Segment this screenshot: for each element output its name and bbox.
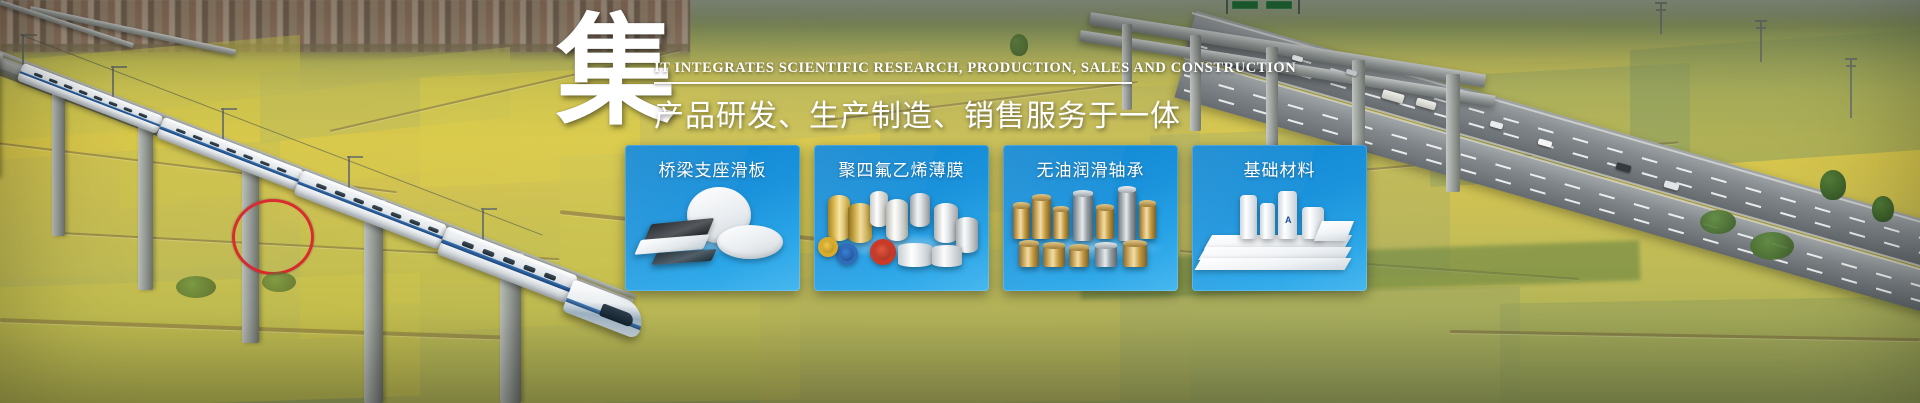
ptfe-sheet bbox=[1195, 258, 1352, 270]
train-car bbox=[156, 117, 304, 191]
lamp-pole bbox=[1850, 58, 1852, 118]
bronze-bushing bbox=[1096, 207, 1114, 239]
headline-text-group: IT INTEGRATES SCIENTIFIC RESEARCH, PRODU… bbox=[654, 60, 1154, 135]
film-ring-red bbox=[870, 239, 896, 265]
film-roll bbox=[828, 195, 850, 241]
product-card-base-materials[interactable]: 基础材料 A bbox=[1192, 145, 1367, 291]
product-card-title: 无油润滑轴承 bbox=[1003, 145, 1178, 181]
headline-block: 集 IT INTEGRATES SCIENTIFIC RESEARCH, PRO… bbox=[556, 16, 1156, 140]
bushing-rim bbox=[1043, 242, 1065, 249]
sign-gantry-post bbox=[1226, 0, 1228, 14]
product-art-oil-free-bearing bbox=[1003, 181, 1178, 285]
bronze-bushing bbox=[1053, 209, 1069, 239]
bronze-bushing bbox=[1139, 203, 1156, 239]
lamp-pole bbox=[1660, 2, 1662, 34]
roadside-bush bbox=[1700, 210, 1736, 234]
film-ring-blue bbox=[836, 243, 858, 265]
viaduct-deck-far bbox=[29, 6, 236, 56]
sleeve-rim bbox=[1118, 186, 1136, 193]
train-car bbox=[437, 226, 578, 304]
high-speed-train bbox=[20, 62, 620, 332]
product-art-ptfe-film bbox=[814, 181, 989, 285]
bearing-highlight-marker bbox=[232, 199, 314, 275]
product-card-title: 桥梁支座滑板 bbox=[625, 145, 800, 181]
product-badge-label: A bbox=[1285, 215, 1292, 225]
sleeve-rim bbox=[1073, 190, 1093, 197]
product-card-title: 基础材料 bbox=[1192, 145, 1367, 181]
sleeve-rim bbox=[1095, 242, 1117, 249]
overpass-pier bbox=[1190, 35, 1201, 131]
ptfe-rod bbox=[1240, 195, 1257, 239]
bushing-rim bbox=[1096, 204, 1114, 211]
product-art-bridge-bearing-slide-plate bbox=[625, 181, 800, 285]
headline-chinese-tagline: 产品研发、生产制造、销售服务于一体 bbox=[654, 91, 1154, 135]
field-bush bbox=[262, 272, 296, 292]
roadside-tree bbox=[1872, 196, 1894, 222]
lamp-pole bbox=[1760, 20, 1762, 62]
bushing-rim bbox=[1013, 202, 1030, 209]
banner-stage: 集 IT INTEGRATES SCIENTIFIC RESEARCH, PRO… bbox=[0, 0, 1920, 403]
film-roll bbox=[910, 193, 930, 227]
ptfe-disc bbox=[717, 225, 783, 259]
headline-divider-rule bbox=[654, 82, 1132, 84]
bushing-rim bbox=[1123, 240, 1147, 247]
bronze-bushing bbox=[1013, 205, 1030, 239]
film-roll-white bbox=[932, 245, 962, 267]
steel-sleeve bbox=[1118, 189, 1136, 241]
train-car bbox=[293, 170, 447, 250]
bronze-bushing bbox=[1032, 197, 1051, 239]
highway-sign bbox=[1266, 1, 1292, 9]
train-car bbox=[17, 63, 164, 134]
product-card-bridge-bearing-slide-plate[interactable]: 桥梁支座滑板 bbox=[625, 145, 800, 291]
film-roll-white bbox=[898, 243, 932, 267]
bushing-rim bbox=[1069, 244, 1089, 251]
bushing-rim bbox=[1053, 206, 1069, 212]
highway-sign bbox=[1232, 1, 1258, 9]
roadside-bush bbox=[1750, 232, 1794, 260]
roadside-tree bbox=[1820, 170, 1846, 200]
product-card-oil-free-bearing[interactable]: 无油润滑轴承 bbox=[1003, 145, 1178, 291]
film-ring-yellow bbox=[818, 237, 838, 257]
steel-sleeve bbox=[1073, 193, 1093, 241]
film-roll bbox=[886, 199, 908, 241]
product-card-ptfe-film[interactable]: 聚四氟乙烯薄膜 bbox=[814, 145, 989, 291]
product-card-row: 桥梁支座滑板 聚四氟乙烯薄膜 bbox=[625, 145, 1367, 291]
ptfe-rod bbox=[1260, 203, 1275, 239]
overpass-pier bbox=[1446, 74, 1460, 192]
film-roll bbox=[848, 203, 872, 243]
bushing-rim bbox=[1139, 200, 1156, 207]
product-card-title: 聚四氟乙烯薄膜 bbox=[814, 145, 989, 181]
bushing-rim bbox=[1019, 240, 1039, 247]
bushing-rim bbox=[1032, 194, 1051, 201]
film-roll bbox=[934, 203, 958, 243]
field-bush bbox=[176, 276, 216, 298]
headline-english-tagline: IT INTEGRATES SCIENTIFIC RESEARCH, PRODU… bbox=[654, 60, 1154, 77]
product-art-base-materials: A bbox=[1192, 181, 1367, 285]
sign-gantry-post bbox=[1298, 0, 1300, 14]
